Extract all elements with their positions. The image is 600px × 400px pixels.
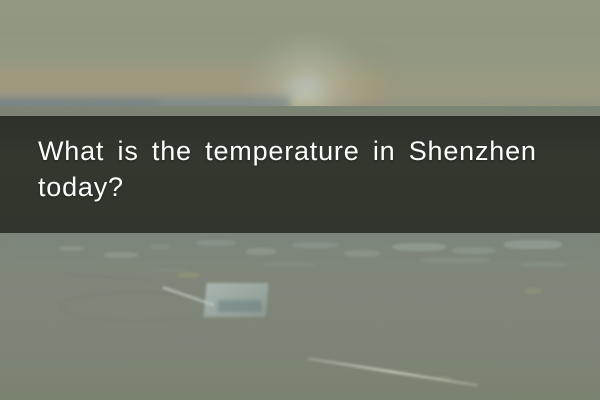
debris-speck [58,246,84,251]
debris-speck [504,240,562,249]
caption-text: What is the temperature in Shenzhen toda… [38,133,582,205]
caption-banner: What is the temperature in Shenzhen toda… [0,116,600,233]
debris-speck [196,240,236,246]
debris-box-shadow [218,300,262,312]
debris-speck [420,258,490,263]
debris-speck [452,247,496,254]
debris-speck [246,248,276,255]
debris-speck [392,243,446,251]
screenshot-root: What is the temperature in Shenzhen toda… [0,0,600,400]
sky-warm-haze-right [330,58,600,108]
debris-speck [262,262,316,267]
debris-speck [104,252,138,258]
debris-speck-warm [178,272,200,278]
ground-haze-band [0,232,600,280]
debris-speck [292,242,338,248]
debris-speck [150,244,170,249]
debris-speck [344,250,380,257]
debris-speck-warm [524,288,542,294]
debris-speck [520,262,568,267]
